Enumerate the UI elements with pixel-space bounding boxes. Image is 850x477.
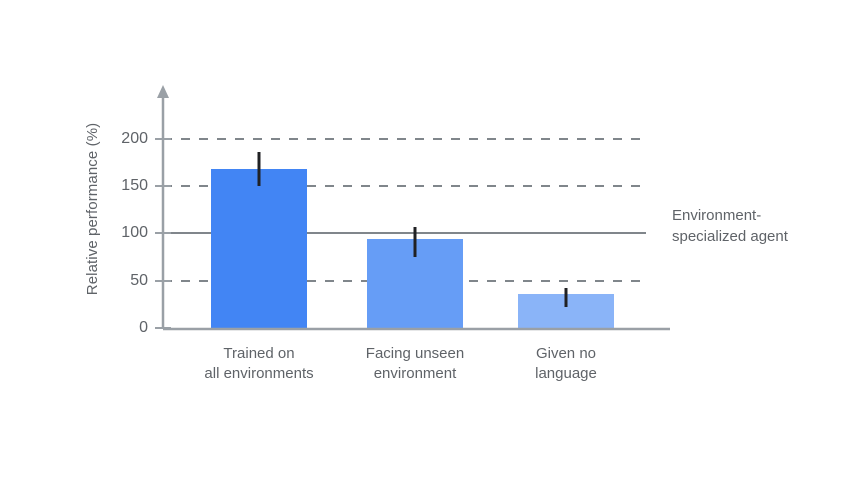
bar-chart: Relative performance (%) 200 150 100 50 … (0, 0, 850, 477)
x-category-label-0-line1: Trained on (174, 344, 344, 364)
y-axis (155, 85, 171, 329)
bars (211, 169, 614, 328)
y-tick-label-100: 100 (104, 225, 148, 241)
x-category-label-0: Trained on all environments (174, 344, 344, 384)
x-category-label-1-line1: Facing unseen (330, 344, 500, 364)
y-tick-label-50: 50 (104, 273, 148, 289)
y-tick-label-0: 0 (104, 320, 148, 336)
x-category-label-2: Given no language (481, 344, 651, 384)
x-category-label-1-line2: environment (330, 364, 500, 384)
y-tick-label-200: 200 (104, 131, 148, 147)
y-axis-title: Relative performance (%) (84, 89, 101, 329)
reference-line-annotation-line2: specialized agent (672, 226, 837, 247)
x-category-label-0-line2: all environments (174, 364, 344, 384)
y-tick-label-150: 150 (104, 178, 148, 194)
x-category-label-2-line2: language (481, 364, 651, 384)
reference-line-annotation-line1: Environment- (672, 205, 837, 226)
x-category-label-2-line1: Given no (481, 344, 651, 364)
bar-trained-on-all-environments (211, 169, 307, 328)
reference-line-annotation: Environment- specialized agent (672, 205, 837, 247)
x-category-label-1: Facing unseen environment (330, 344, 500, 384)
y-axis-arrowhead-icon (157, 85, 169, 98)
y-tick-labels: 200 150 100 50 0 (104, 0, 148, 477)
